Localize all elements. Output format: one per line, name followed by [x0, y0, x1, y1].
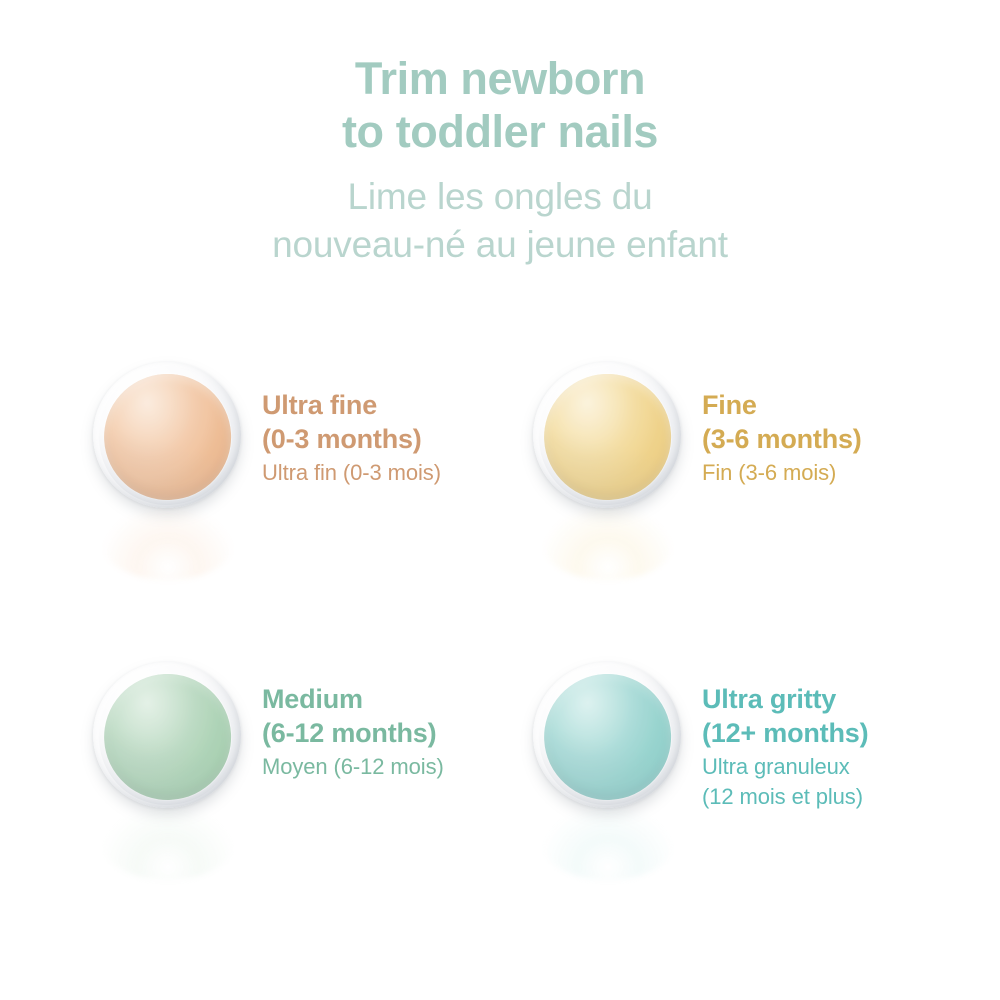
grain-texture [101, 671, 234, 803]
product-label: Ultra fine (0-3 months) Ultra fin (0-3 m… [262, 388, 532, 488]
product-label: Fine (3-6 months) Fin (3-6 mois) [702, 388, 972, 488]
grain-texture [541, 371, 674, 503]
disc-abrasive-pad [101, 671, 234, 803]
disc-white-casing [529, 358, 684, 512]
product-name-english: Ultra fine (0-3 months) [262, 388, 532, 456]
disc-abrasive-pad [541, 371, 674, 503]
product-name-french: Fin (3-6 mois) [702, 458, 972, 488]
product-item-ultra-gritty: Ultra gritty (12+ months) Ultra granuleu… [500, 640, 970, 940]
disc-reflection [544, 808, 672, 880]
disc-white-casing [89, 658, 244, 812]
product-name-english: Ultra gritty (12+ months) [702, 682, 972, 750]
product-item-ultra-fine: Ultra fine (0-3 months) Ultra fin (0-3 m… [60, 340, 530, 640]
infographic-page: Trim newborn to toddler nails Lime les o… [0, 0, 1000, 1000]
disc-reflection [104, 508, 232, 580]
nail-file-disc-icon [528, 658, 688, 888]
nail-file-disc-icon [528, 358, 688, 588]
disc-sheen [101, 371, 234, 503]
product-name-french: Ultra granuleux (12 mois et plus) [702, 752, 972, 812]
nail-file-disc-icon [88, 658, 248, 888]
product-item-medium: Medium (6-12 months) Moyen (6-12 mois) [60, 640, 530, 940]
header: Trim newborn to toddler nails Lime les o… [0, 52, 1000, 269]
disc-reflection [544, 508, 672, 580]
page-title: Trim newborn to toddler nails [0, 52, 1000, 158]
nail-file-disc-icon [88, 358, 248, 588]
disc-sheen [541, 371, 674, 503]
disc-abrasive-pad [101, 371, 234, 503]
product-label: Medium (6-12 months) Moyen (6-12 mois) [262, 682, 532, 782]
disc-reflection [104, 808, 232, 880]
product-grid: Ultra fine (0-3 months) Ultra fin (0-3 m… [0, 340, 1000, 940]
grain-texture [101, 371, 234, 503]
product-name-french: Moyen (6-12 mois) [262, 752, 532, 782]
disc-abrasive-pad [541, 671, 674, 803]
grain-texture [541, 671, 674, 803]
disc-white-casing [89, 358, 244, 512]
disc-sheen [541, 671, 674, 803]
product-name-english: Medium (6-12 months) [262, 682, 532, 750]
product-name-english: Fine (3-6 months) [702, 388, 972, 456]
page-subtitle-french: Lime les ongles du nouveau-né au jeune e… [0, 173, 1000, 269]
product-name-french: Ultra fin (0-3 mois) [262, 458, 532, 488]
disc-white-casing [529, 658, 684, 812]
product-label: Ultra gritty (12+ months) Ultra granuleu… [702, 682, 972, 812]
disc-sheen [101, 671, 234, 803]
product-item-fine: Fine (3-6 months) Fin (3-6 mois) [500, 340, 970, 640]
